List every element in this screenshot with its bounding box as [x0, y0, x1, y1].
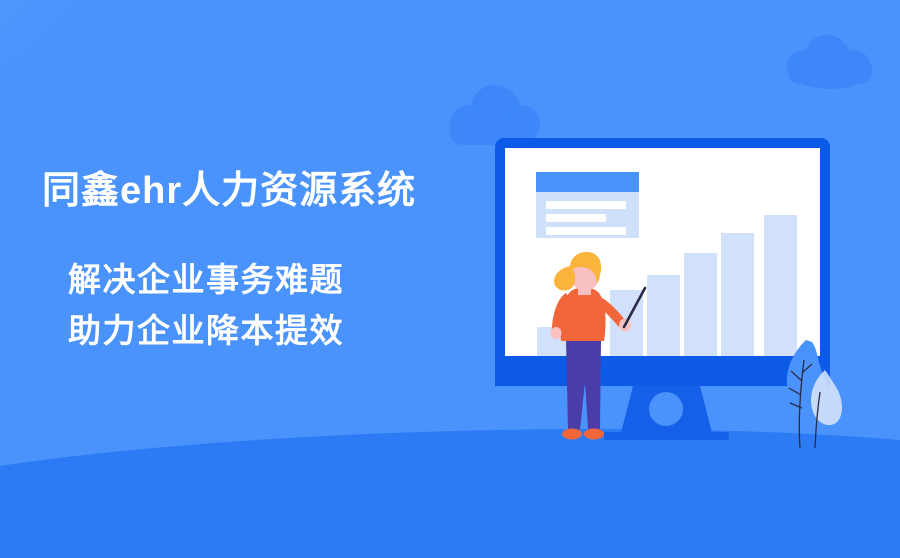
dashboard-card-line-1 — [546, 201, 626, 209]
bar-3 — [647, 275, 680, 356]
promo-banner: 同鑫ehr人力资源系统 解决企业事务难题 助力企业降本提效 — [0, 0, 900, 558]
monitor-frame-bottom-round — [495, 366, 830, 386]
person-shoe-right — [584, 429, 604, 440]
dashboard-card — [536, 172, 639, 238]
dashboard-card-line-2 — [546, 214, 606, 222]
banner-text-block: 同鑫ehr人力资源系统 解决企业事务难题 助力企业降本提效 — [42, 168, 472, 356]
tree-illustration — [787, 340, 842, 448]
person-pants — [566, 340, 601, 430]
monitor-base-bar — [604, 432, 729, 440]
dashboard-card-line-3 — [546, 227, 626, 235]
person-shoe-left — [562, 429, 582, 440]
bar-4 — [684, 253, 717, 356]
subheadline-line-1: 解决企业事务难题 — [68, 254, 472, 305]
page-title: 同鑫ehr人力资源系统 — [42, 168, 472, 216]
dashboard-card-header — [536, 172, 639, 192]
bar-6 — [764, 215, 797, 356]
monitor-stand-knob — [649, 392, 683, 426]
subheadline-group: 解决企业事务难题 助力企业降本提效 — [42, 254, 472, 356]
person-hand-left — [551, 327, 562, 339]
subheadline-line-2: 助力企业降本提效 — [68, 305, 472, 356]
bar-5 — [721, 233, 754, 356]
